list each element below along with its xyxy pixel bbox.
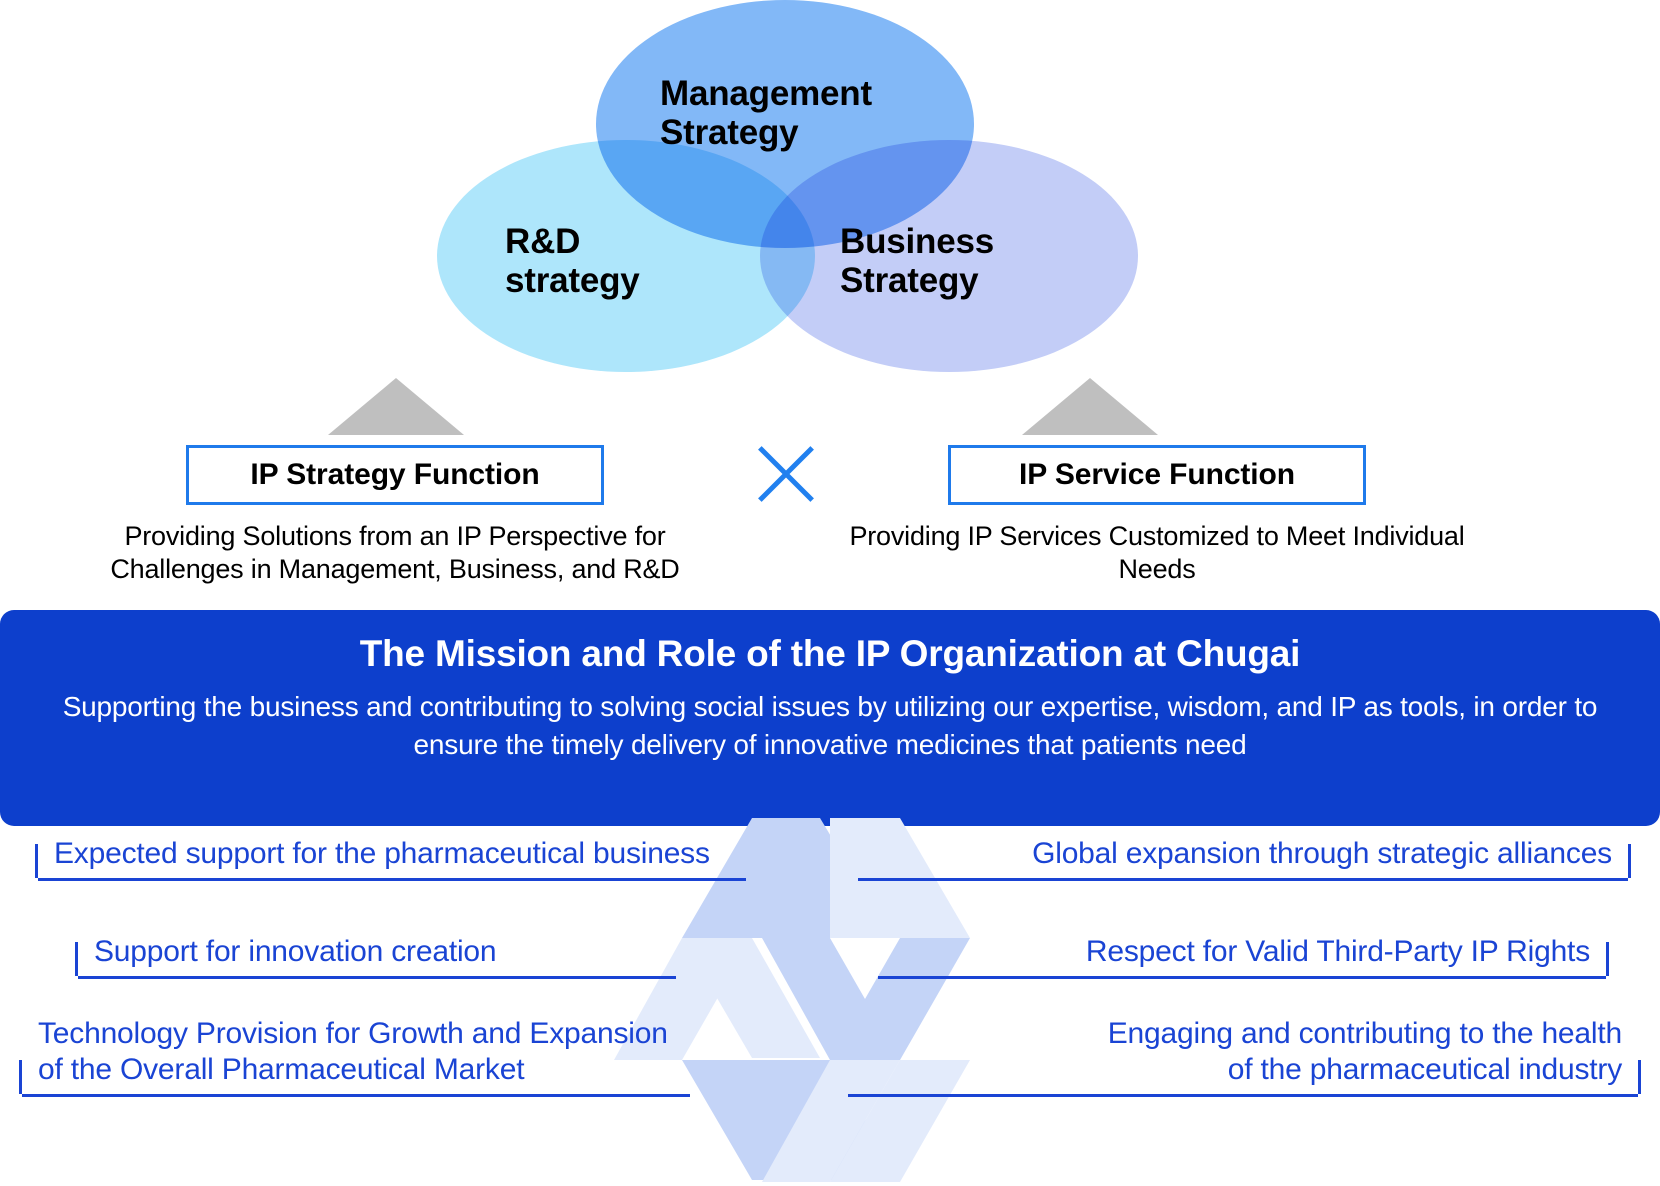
venn-label-business-strategy: Business Strategy [840, 222, 1060, 300]
outcome-right-0: Global expansion through strategic allia… [858, 836, 1628, 881]
ip-strategy-function-description: Providing Solutions from an IP Perspecti… [60, 520, 730, 587]
mission-body-text: Supporting the business and contributing… [0, 688, 1660, 764]
outcome-right-2-label: Engaging and contributing to the health … [848, 1016, 1638, 1094]
ip-strategy-function-label: IP Strategy Function [250, 458, 539, 492]
outcome-right-0-label: Global expansion through strategic allia… [858, 836, 1628, 878]
outcome-right-1-label: Respect for Valid Third-Party IP Rights [878, 934, 1606, 976]
outcome-left-0: Expected support for the pharmaceutical … [38, 836, 746, 881]
outcome-left-1: Support for innovation creation [78, 934, 676, 979]
ip-service-function-description: Providing IP Services Customized to Meet… [822, 520, 1492, 587]
ip-strategy-function-box: IP Strategy Function [186, 445, 604, 505]
outcome-right-1: Respect for Valid Third-Party IP Rights [878, 934, 1606, 979]
venn-diagram: Management Strategy R&D strategy Busines… [0, 0, 1660, 400]
x-cross-icon [752, 440, 820, 508]
venn-label-management-strategy: Management Strategy [660, 74, 910, 152]
outcome-left-2-label: Technology Provision for Growth and Expa… [22, 1016, 690, 1094]
outcome-left-2: Technology Provision for Growth and Expa… [22, 1016, 690, 1097]
mission-title: The Mission and Role of the IP Organizat… [0, 632, 1660, 676]
diagram-root: Management Strategy R&D strategy Busines… [0, 0, 1660, 1186]
outcome-left-1-label: Support for innovation creation [78, 934, 676, 976]
outcome-left-0-label: Expected support for the pharmaceutical … [38, 836, 746, 878]
up-triangle-icon-left [328, 378, 464, 435]
mission-banner: The Mission and Role of the IP Organizat… [0, 610, 1660, 826]
up-triangle-icon-right [1022, 378, 1158, 435]
venn-label-rd-strategy: R&D strategy [505, 222, 731, 300]
ip-service-function-box: IP Service Function [948, 445, 1366, 505]
outcome-right-2: Engaging and contributing to the health … [848, 1016, 1638, 1097]
outcomes-group: Expected support for the pharmaceutical … [0, 826, 1660, 1186]
ip-service-function-label: IP Service Function [1019, 458, 1295, 492]
